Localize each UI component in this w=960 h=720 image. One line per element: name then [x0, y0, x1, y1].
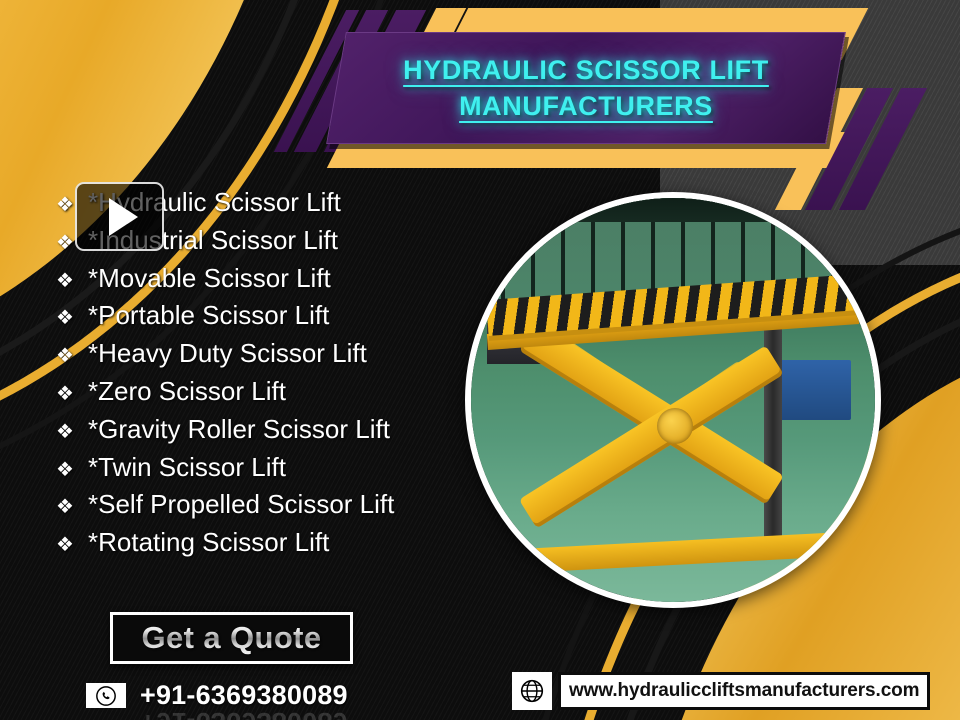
play-icon [109, 198, 138, 236]
list-item-label: *Self Propelled Scissor Lift [88, 488, 394, 522]
page-title-line-1: HYDRAULIC SCISSOR LIFT [403, 53, 769, 89]
product-photo-circle [465, 192, 881, 608]
globe-icon [512, 672, 552, 710]
list-item: ❖ *Portable Scissor Lift [56, 299, 496, 333]
page-title-line-2: MANUFACTURERS [459, 89, 713, 125]
list-item: ❖ *Heavy Duty Scissor Lift [56, 337, 496, 371]
diamond-bullet-icon: ❖ [56, 268, 88, 294]
list-item-label: *Heavy Duty Scissor Lift [88, 337, 367, 371]
list-item: ❖ *Self Propelled Scissor Lift [56, 488, 496, 522]
list-item-label: *Rotating Scissor Lift [88, 526, 329, 560]
phone-number: +91-6369380089 [140, 680, 348, 711]
presentation-slide: HYDRAULIC SCISSOR LIFT MANUFACTURERS ❖ *… [0, 0, 960, 720]
website-bar: www.hydrauliccliftsmanufacturers.com [558, 672, 930, 710]
list-item-label: *Movable Scissor Lift [88, 262, 331, 296]
diamond-bullet-icon: ❖ [56, 494, 88, 520]
title-banner: HYDRAULIC SCISSOR LIFT MANUFACTURERS [326, 32, 846, 144]
diamond-bullet-icon: ❖ [56, 305, 88, 331]
diamond-bullet-icon: ❖ [56, 419, 88, 445]
whatsapp-icon [86, 683, 126, 708]
list-item: ❖ *Zero Scissor Lift [56, 375, 496, 409]
website-url: www.hydrauliccliftsmanufacturers.com [569, 680, 919, 702]
list-item: ❖ *Rotating Scissor Lift [56, 526, 496, 560]
diamond-bullet-icon: ❖ [56, 457, 88, 483]
diamond-bullet-icon: ❖ [56, 343, 88, 369]
photo-lift-base [503, 533, 843, 575]
diamond-bullet-icon: ❖ [56, 532, 88, 558]
list-item-label: *Portable Scissor Lift [88, 299, 329, 333]
play-button[interactable] [75, 182, 164, 251]
list-item: ❖ *Gravity Roller Scissor Lift [56, 413, 496, 447]
phone-contact[interactable]: +91-6369380089 [86, 680, 348, 711]
list-item-label: *Gravity Roller Scissor Lift [88, 413, 390, 447]
list-item-label: *Zero Scissor Lift [88, 375, 286, 409]
list-item: ❖ *Twin Scissor Lift [56, 451, 496, 485]
diamond-bullet-icon: ❖ [56, 381, 88, 407]
list-item: ❖ *Movable Scissor Lift [56, 262, 496, 296]
list-item-label: *Twin Scissor Lift [88, 451, 286, 485]
get-a-quote-button[interactable]: Get a Quote [110, 612, 353, 664]
get-a-quote-label: Get a Quote [141, 620, 321, 656]
website-contact[interactable]: www.hydrauliccliftsmanufacturers.com [512, 672, 930, 710]
scissor-lift-photo [471, 198, 875, 602]
